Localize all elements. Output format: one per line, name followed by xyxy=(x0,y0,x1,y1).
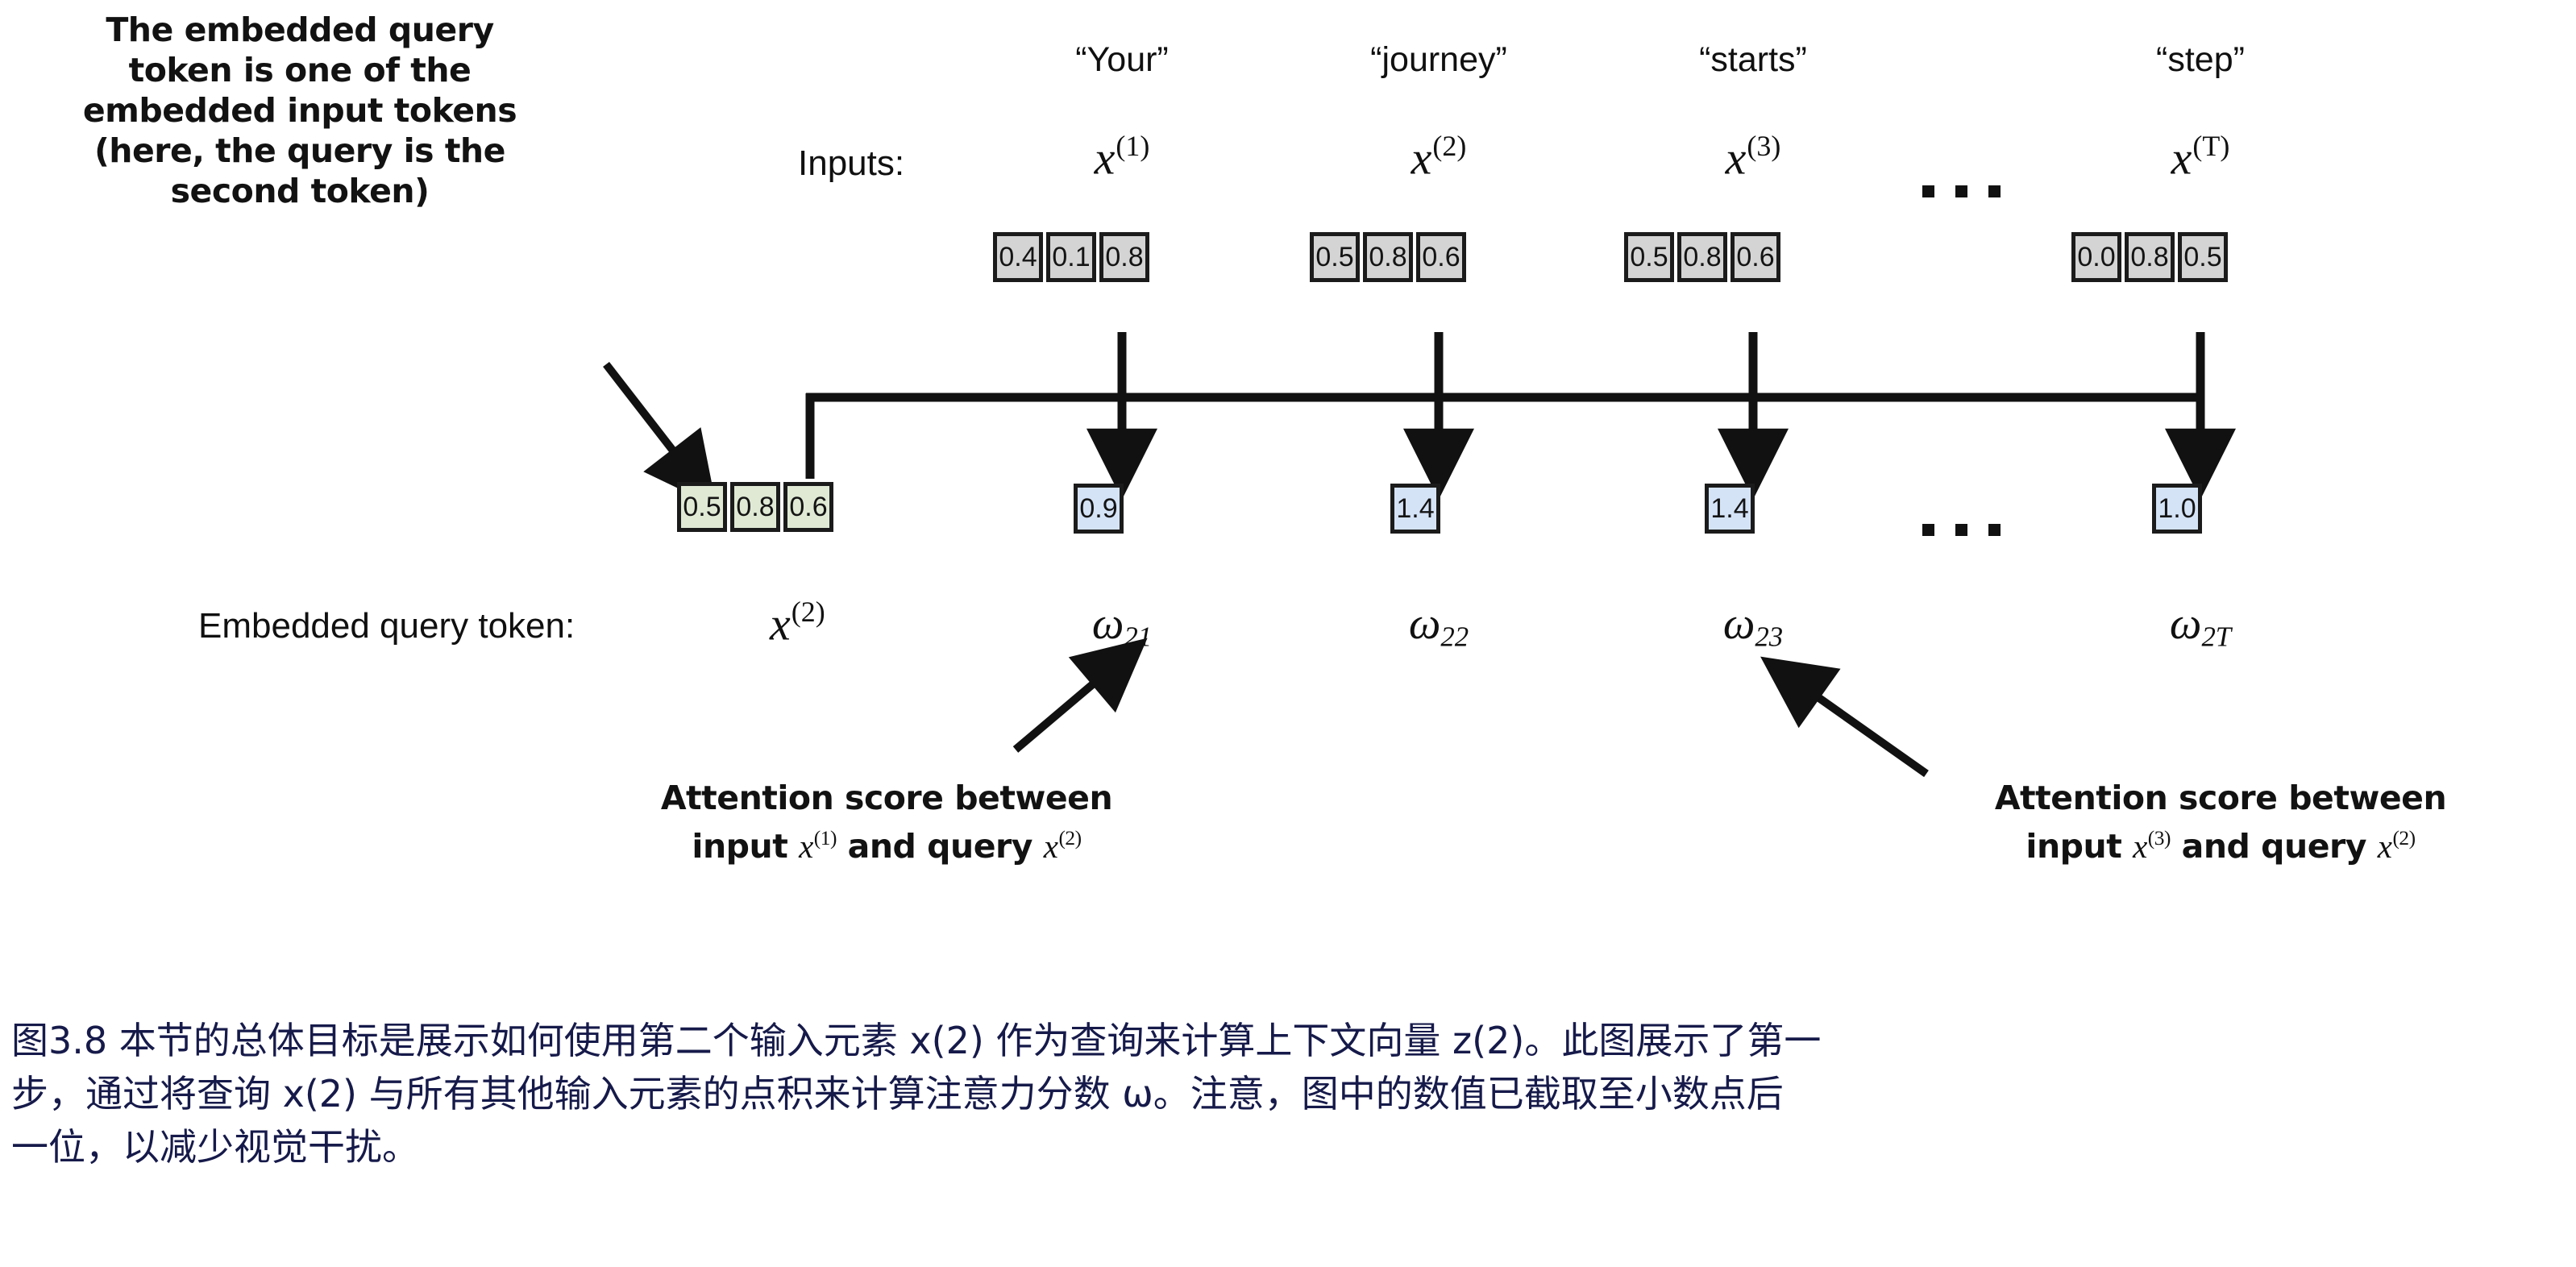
score-cell: 1.4 xyxy=(1705,484,1755,534)
input-cell: 0.8 xyxy=(1363,232,1413,282)
left-score-note: Attention score between input x(1) and q… xyxy=(580,778,1193,866)
score-box-4: 1.0 xyxy=(2152,484,2202,534)
input-cell: 0.4 xyxy=(993,232,1043,282)
input-cell: 0.8 xyxy=(1099,232,1149,282)
embedded-query-token-label: Embedded query token: xyxy=(198,606,575,646)
left-note-sym2-base: x xyxy=(1044,828,1058,865)
score-label-2: ω22 xyxy=(1310,598,1568,654)
input-cell: 0.5 xyxy=(1624,232,1674,282)
input-cell: 0.8 xyxy=(2125,232,2175,282)
score-row-ellipsis xyxy=(1922,524,2001,536)
input-vector-2: 0.5 0.8 0.6 xyxy=(1310,232,1466,282)
right-score-note-line-2: input x(3) and query x(2) xyxy=(1902,818,2539,866)
query-cell: 0.8 xyxy=(730,482,780,532)
input-symbol-1-base: x xyxy=(1095,131,1116,184)
input-row-ellipsis xyxy=(1922,185,2001,197)
score-label-2-base: ω xyxy=(1409,599,1441,649)
input-word-3: “starts” xyxy=(1624,40,1882,80)
right-score-note-line-1: Attention score between xyxy=(1902,778,2539,818)
input-cell: 0.5 xyxy=(2178,232,2228,282)
score-label-1-base: ω xyxy=(1092,599,1124,649)
input-symbol-4-base: x xyxy=(2171,131,2192,184)
input-vector-3: 0.5 0.8 0.6 xyxy=(1624,232,1780,282)
query-note-arrow xyxy=(606,364,695,479)
input-cell: 0.6 xyxy=(1416,232,1466,282)
input-cell: 0.5 xyxy=(1310,232,1360,282)
right-note-sym1-base: x xyxy=(2133,828,2147,865)
right-note-prefix: input xyxy=(2025,827,2133,866)
right-score-note-arrow xyxy=(1789,677,1926,774)
left-note-symbol-2: x(2) xyxy=(1044,828,1082,865)
dot xyxy=(1955,524,1967,536)
input-vector-1: 0.4 0.1 0.8 xyxy=(993,232,1149,282)
right-note-sym2-sup: (2) xyxy=(2392,827,2415,850)
score-cell: 0.9 xyxy=(1074,484,1124,534)
input-symbol-4: x(T) xyxy=(2071,129,2329,185)
right-note-sym1-sup: (3) xyxy=(2148,827,2171,850)
left-note-symbol-1: x(1) xyxy=(799,828,837,865)
note-line-1: The embedded query xyxy=(18,10,582,50)
score-label-3-sub: 23 xyxy=(1755,621,1783,653)
input-symbol-1-sup: (1) xyxy=(1116,130,1149,162)
score-label-3: ω23 xyxy=(1624,598,1882,654)
figure-canvas: The embedded query token is one of the e… xyxy=(0,0,2576,1267)
note-line-4: (here, the query is the xyxy=(18,131,582,171)
input-cell: 0.8 xyxy=(1677,232,1727,282)
right-note-symbol-2: x(2) xyxy=(2378,828,2416,865)
score-box-3: 1.4 xyxy=(1705,484,1755,534)
left-score-note-line-2: input x(1) and query x(2) xyxy=(580,818,1193,866)
note-line-3: embedded input tokens xyxy=(18,90,582,131)
dot xyxy=(1988,185,2001,197)
input-symbol-3-sup: (3) xyxy=(1747,130,1780,162)
score-label-1-sub: 21 xyxy=(1124,621,1152,653)
input-cell: 0.0 xyxy=(2071,232,2121,282)
input-cell: 0.1 xyxy=(1046,232,1096,282)
note-line-2: token is one of the xyxy=(18,50,582,90)
score-label-2-sub: 22 xyxy=(1440,621,1469,653)
caption-line-2: 步，通过将查询 x(2) 与所有其他输入元素的点积来计算注意力分数 ω。注意，图… xyxy=(11,1067,2566,1120)
score-label-1: ω21 xyxy=(993,598,1251,654)
dot xyxy=(1922,185,1934,197)
dot xyxy=(1988,524,2001,536)
dot xyxy=(1922,524,1934,536)
right-score-note: Attention score between input x(3) and q… xyxy=(1902,778,2539,866)
left-note-mid: and query xyxy=(837,827,1044,866)
inputs-label: Inputs: xyxy=(798,143,904,184)
score-box-1: 0.9 xyxy=(1074,484,1124,534)
left-score-note-line-1: Attention score between xyxy=(580,778,1193,818)
query-vector: 0.5 0.8 0.6 xyxy=(677,482,833,532)
input-symbol-1: x(1) xyxy=(993,129,1251,185)
right-note-sym2-base: x xyxy=(2378,828,2392,865)
score-box-2: 1.4 xyxy=(1390,484,1440,534)
query-cell: 0.6 xyxy=(783,482,833,532)
input-symbol-2-sup: (2) xyxy=(1432,130,1466,162)
left-note-sym2-sup: (2) xyxy=(1058,827,1081,850)
left-note-sym1-sup: (1) xyxy=(814,827,837,850)
input-symbol-3-base: x xyxy=(1726,131,1747,184)
query-symbol-sup: (2) xyxy=(791,596,825,628)
input-symbol-2-base: x xyxy=(1411,131,1432,184)
left-score-note-arrow xyxy=(1016,661,1120,750)
input-symbol-4-sup: (T) xyxy=(2192,130,2229,162)
input-cell: 0.6 xyxy=(1730,232,1780,282)
score-label-4-sub: 2T xyxy=(2201,621,2231,653)
input-word-2: “journey” xyxy=(1310,40,1568,80)
score-cell: 1.0 xyxy=(2152,484,2202,534)
score-label-4: ω2T xyxy=(2071,598,2329,654)
score-label-3-base: ω xyxy=(1723,599,1755,649)
input-symbol-3: x(3) xyxy=(1624,129,1882,185)
caption-line-3: 一位，以减少视觉干扰。 xyxy=(11,1120,2566,1174)
input-vector-4: 0.0 0.8 0.5 xyxy=(2071,232,2228,282)
query-explanation-note: The embedded query token is one of the e… xyxy=(18,10,582,211)
query-symbol: x(2) xyxy=(770,595,825,650)
right-note-mid: and query xyxy=(2171,827,2378,866)
left-note-sym1-base: x xyxy=(799,828,813,865)
note-line-5: second token) xyxy=(18,171,582,211)
query-cell: 0.5 xyxy=(677,482,727,532)
score-label-4-base: ω xyxy=(2170,599,2202,649)
left-note-prefix: input xyxy=(692,827,799,866)
query-symbol-base: x xyxy=(770,597,791,650)
figure-caption: 图3.8 本节的总体目标是展示如何使用第二个输入元素 x(2) 作为查询来计算上… xyxy=(11,1014,2566,1174)
score-cell: 1.4 xyxy=(1390,484,1440,534)
caption-line-1: 图3.8 本节的总体目标是展示如何使用第二个输入元素 x(2) 作为查询来计算上… xyxy=(11,1014,2566,1067)
right-note-symbol-1: x(3) xyxy=(2133,828,2171,865)
dot xyxy=(1955,185,1967,197)
input-symbol-2: x(2) xyxy=(1310,129,1568,185)
input-word-1: “Your” xyxy=(993,40,1251,80)
input-word-4: “step” xyxy=(2071,40,2329,80)
